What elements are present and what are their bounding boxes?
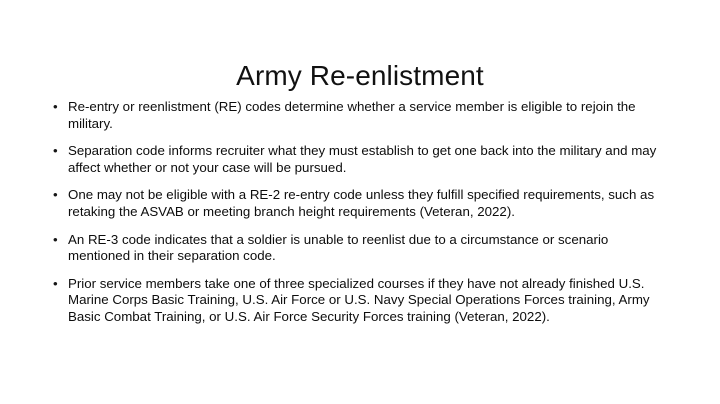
list-item-text: An RE-3 code indicates that a soldier is… <box>68 232 667 265</box>
bullet-point-icon: • <box>53 276 63 293</box>
bullet-point-icon: • <box>53 187 63 204</box>
list-item-text: Separation code informs recruiter what t… <box>68 143 667 176</box>
presentation-slide: Army Re-enlistment • Re-entry or reenlis… <box>0 0 720 404</box>
bullet-point-icon: • <box>53 232 63 249</box>
list-item-text: Re-entry or reenlistment (RE) codes dete… <box>68 99 667 132</box>
list-item-text: Prior service members take one of three … <box>68 276 667 326</box>
page-title: Army Re-enlistment <box>0 59 720 93</box>
list-item: • Separation code informs recruiter what… <box>47 143 667 176</box>
list-item: • An RE-3 code indicates that a soldier … <box>47 232 667 265</box>
list-item: • Re-entry or reenlistment (RE) codes de… <box>47 99 667 132</box>
bullet-list: • Re-entry or reenlistment (RE) codes de… <box>47 99 667 326</box>
bullet-point-icon: • <box>53 143 63 160</box>
slide-body: • Re-entry or reenlistment (RE) codes de… <box>47 99 667 326</box>
list-item-text: One may not be eligible with a RE-2 re-e… <box>68 187 667 220</box>
bullet-point-icon: • <box>53 99 63 116</box>
list-item: • One may not be eligible with a RE-2 re… <box>47 187 667 220</box>
list-item: • Prior service members take one of thre… <box>47 276 667 326</box>
